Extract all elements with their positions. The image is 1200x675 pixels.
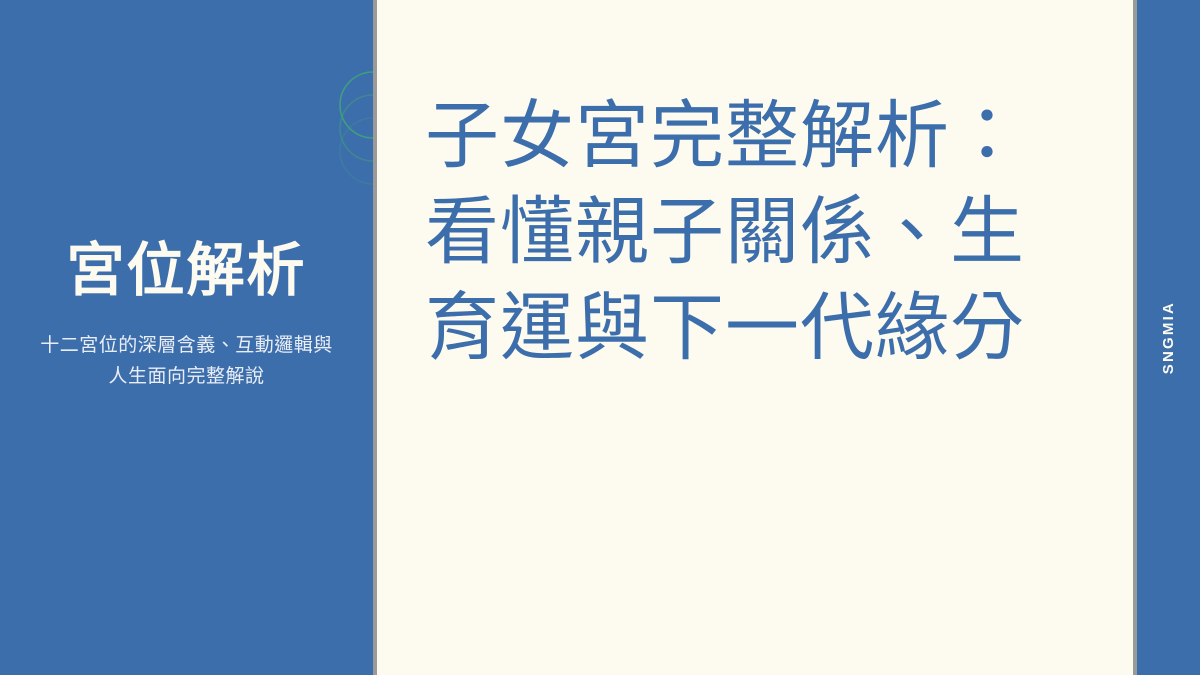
left-panel: 宮位解析 十二宮位的深層含義、互動邏輯與人生面向完整解說	[0, 0, 373, 675]
panel-subheading: 十二宮位的深層含義、互動邏輯與人生面向完整解說	[34, 330, 339, 393]
main-title: 子女宮完整解析：看懂親子關係、生育運與下一代緣分	[425, 88, 1085, 377]
right-rail: SNGMIA	[1137, 0, 1200, 675]
left-panel-content: 宮位解析 十二宮位的深層含義、互動邏輯與人生面向完整解說	[0, 239, 373, 393]
slide-canvas: 宮位解析 十二宮位的深層含義、互動邏輯與人生面向完整解說 子女宮完整解析：看懂親…	[0, 0, 1200, 675]
main-content-area: 子女宮完整解析：看懂親子關係、生育運與下一代緣分	[377, 0, 1133, 675]
panel-heading: 宮位解析	[18, 239, 355, 304]
brand-label: SNGMIA	[1160, 301, 1177, 374]
